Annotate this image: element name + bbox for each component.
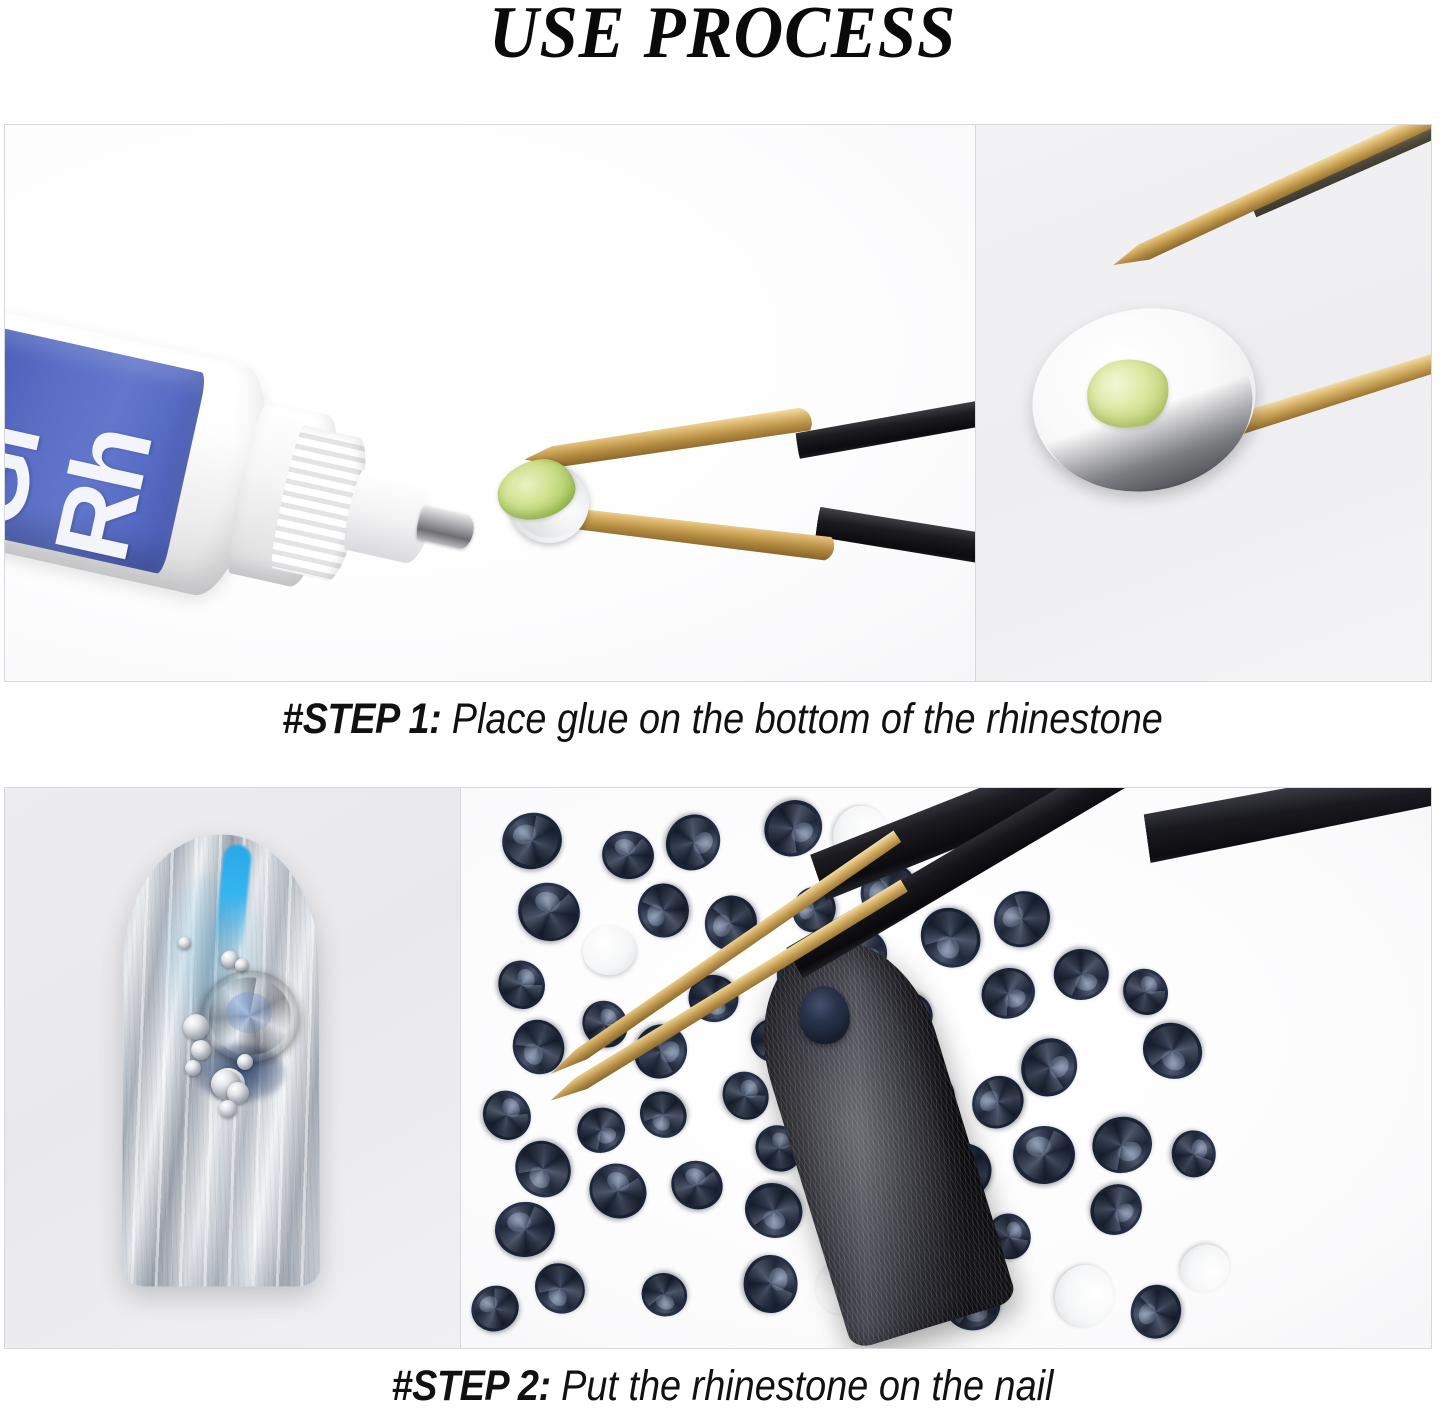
panel-rhinestone-backside — [976, 125, 1431, 681]
navy-rhinestone — [1168, 1127, 1218, 1180]
navy-rhinestone — [736, 1174, 811, 1247]
navy-rhinestone — [463, 1277, 527, 1340]
navy-rhinestone — [635, 881, 691, 940]
panel-finished-nail — [5, 788, 461, 1348]
rhinestone-flatback — [1019, 293, 1268, 506]
navy-rhinestone — [511, 875, 588, 949]
navy-rhinestone — [579, 1153, 656, 1229]
tweezer-handle-rear — [1142, 788, 1431, 870]
silver-bead — [191, 1040, 211, 1060]
navy-rhinestone — [1081, 1174, 1153, 1245]
rhinestone-flatback — [1172, 1236, 1238, 1301]
navy-rhinestone — [597, 826, 658, 884]
silver-bead — [237, 1054, 253, 1070]
step-1-label: #STEP 1: — [282, 695, 441, 743]
silver-nail-tip — [122, 835, 320, 1287]
panel-rhinestone-placement — [461, 788, 1431, 1348]
tweezer-upper-handle — [794, 372, 976, 464]
silver-bead — [183, 1014, 209, 1040]
navy-rhinestone — [1085, 1109, 1160, 1181]
navy-rhinestone — [973, 959, 1043, 1027]
navy-rhinestone — [1124, 1279, 1187, 1344]
glue-bottle: Gl Rh — [5, 280, 494, 681]
glue-label-text-line-2: Rh — [44, 421, 166, 569]
navy-rhinestone-large — [201, 970, 299, 1062]
silver-bead — [178, 937, 191, 950]
navy-rhinestone — [742, 1254, 799, 1314]
rhinestone-flatback — [1046, 1257, 1123, 1337]
navy-rhinestone — [664, 1152, 730, 1216]
navy-rhinestone — [504, 1130, 582, 1209]
use-process-infographic: USE PROCESS Gl Rh — [0, 0, 1445, 1412]
navy-rhinestone — [492, 1199, 557, 1260]
rhinestone-flatback — [579, 923, 639, 979]
navy-rhinestone — [474, 1082, 540, 1149]
navy-rhinestone — [504, 1012, 573, 1083]
step-1-caption: #STEP 1: Place glue on the bottom of the… — [87, 697, 1359, 742]
navy-rhinestone — [630, 1082, 696, 1148]
navy-rhinestone — [1010, 1123, 1078, 1187]
silver-bead — [185, 1060, 201, 1076]
page-title: USE PROCESS — [51, 0, 1395, 70]
step-2-text: Put the rhinestone on the nail — [551, 1362, 1054, 1410]
navy-rhinestone — [494, 805, 568, 876]
step-2-label: #STEP 2: — [392, 1362, 551, 1410]
navy-rhinestone — [1115, 961, 1177, 1024]
silver-bead — [219, 1100, 237, 1118]
navy-rhinestone — [1052, 947, 1110, 1002]
tweezer-upper-gold-tip — [1108, 125, 1431, 275]
fingernail — [45, 676, 232, 681]
tweezer-lower-handle — [814, 504, 976, 598]
panel-glue-application: Gl Rh — [5, 125, 976, 681]
navy-rhinestone — [982, 879, 1062, 959]
step-1-image-row: Gl Rh — [4, 124, 1432, 682]
navy-rhinestone — [490, 953, 553, 1018]
navy-rhinestone — [656, 804, 731, 880]
navy-rhinestone — [634, 1266, 694, 1324]
step-2-image-row — [4, 787, 1432, 1349]
step-1-text: Place glue on the bottom of the rhinesto… — [441, 695, 1163, 743]
tweezer-upper-gold-tip — [522, 406, 813, 474]
navy-rhinestone — [524, 1252, 595, 1323]
navy-rhinestone — [571, 1102, 631, 1160]
navy-rhinestone — [1134, 1013, 1212, 1089]
step-2-caption: #STEP 2: Put the rhinestone on the nail — [87, 1364, 1359, 1409]
